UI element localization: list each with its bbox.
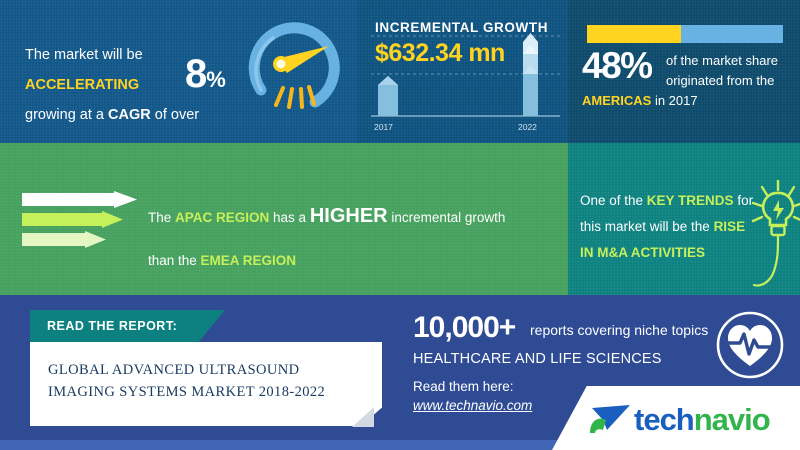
share-line2: originated from the [666,73,774,88]
report-title: GLOBAL ADVANCED ULTRASOUND IMAGING SYSTE… [48,359,368,403]
apac-l1c: has a [269,210,310,225]
technavio-wordmark: technavio [634,402,770,438]
cagr-accelerating: ACCELERATING [25,77,139,93]
logo-navio: navio [694,402,770,437]
apac-arrows-chart [22,191,137,251]
speedometer-gauge-icon [243,12,349,118]
share-line3: in 2017 [651,93,697,108]
trend-line3: IN M&A ACTIVITIES [580,245,705,260]
report-card[interactable]: GLOBAL ADVANCED ULTRASOUND IMAGING SYSTE… [30,342,382,426]
technavio-arrow-icon [590,403,632,435]
infographic-canvas: The market will be ACCELERATING growing … [0,0,800,450]
apac-l1e: incremental growth [388,210,506,225]
cagr-line1-a: The market will be [25,47,143,63]
market-share-bar-fill [587,25,681,43]
cagr-keyword: CAGR [108,107,151,123]
panel-cagr: The market will be ACCELERATING growing … [0,0,358,143]
arrow-lightgreen [22,211,123,228]
apac-region: APAC REGION [175,210,269,225]
reports-count: 10,000+ [413,311,515,345]
panel-apac: The APAC REGION has a HIGHER incremental… [0,143,568,295]
heartbeat-icon [714,309,786,381]
market-share-region-line: AMERICAS in 2017 [582,93,797,108]
website-url-link[interactable]: www.technavio.com [413,398,532,413]
panel-key-trends: One of the KEY TRENDS for this market wi… [568,143,800,295]
growth-label-2017: 2017 [374,122,393,132]
growth-title: INCREMENTAL GROWTH [375,20,548,35]
market-share-text: of the market share originated from the [666,51,796,91]
market-share-percent: 48% [582,45,652,87]
logo-tech: tech [634,402,694,437]
trend-l2a: this market will be the [580,219,714,234]
read-the-report-banner[interactable]: READ THE REPORT: [30,310,225,343]
sector-label: HEALTHCARE AND LIFE SCIENCES [413,351,662,367]
middle-row: The APAC REGION has a HIGHER incremental… [0,143,800,295]
apac-statement: The APAC REGION has a HIGHER incremental… [148,195,548,282]
apac-l2a: than the [148,253,201,268]
apac-higher: HIGHER [310,205,388,227]
cagr-percent-sign: % [206,67,225,92]
bar-2022 [523,33,538,116]
panel-incremental-growth: INCREMENTAL GROWTH $632.34 mn 2017 2022 [358,0,568,143]
share-line1: of the market share [666,53,778,68]
share-region: AMERICAS [582,93,651,108]
emea-region: EMEA REGION [201,253,297,268]
cagr-value: 8% [185,52,225,97]
read-them-here-label: Read them here: [413,379,514,394]
arrow-palegreen [22,231,106,248]
top-row: The market will be ACCELERATING growing … [0,0,800,143]
cagr-line2-c: of over [151,107,199,123]
reports-count-subtitle: reports covering niche topics [530,322,708,338]
cagr-number: 8 [185,52,206,96]
lightbulb-icon [748,173,800,295]
technavio-logo[interactable]: technavio [552,386,800,450]
arrow-white [22,191,137,208]
trend-statement: One of the KEY TRENDS for this market wi… [580,188,755,266]
trend-l1a: One of the [580,193,647,208]
trend-keyword: KEY TRENDS [647,193,734,208]
cagr-line2-a: growing at a [25,107,108,123]
panel-market-share: 48% of the market share originated from … [568,0,800,143]
market-share-bar [587,25,783,43]
growth-label-2022: 2022 [518,122,537,132]
bar-2017 [378,76,398,116]
apac-l1a: The [148,210,175,225]
growth-value: $632.34 mn [375,39,505,68]
trend-rise: RISE [714,219,746,234]
banner-label: READ THE REPORT: [47,319,177,333]
